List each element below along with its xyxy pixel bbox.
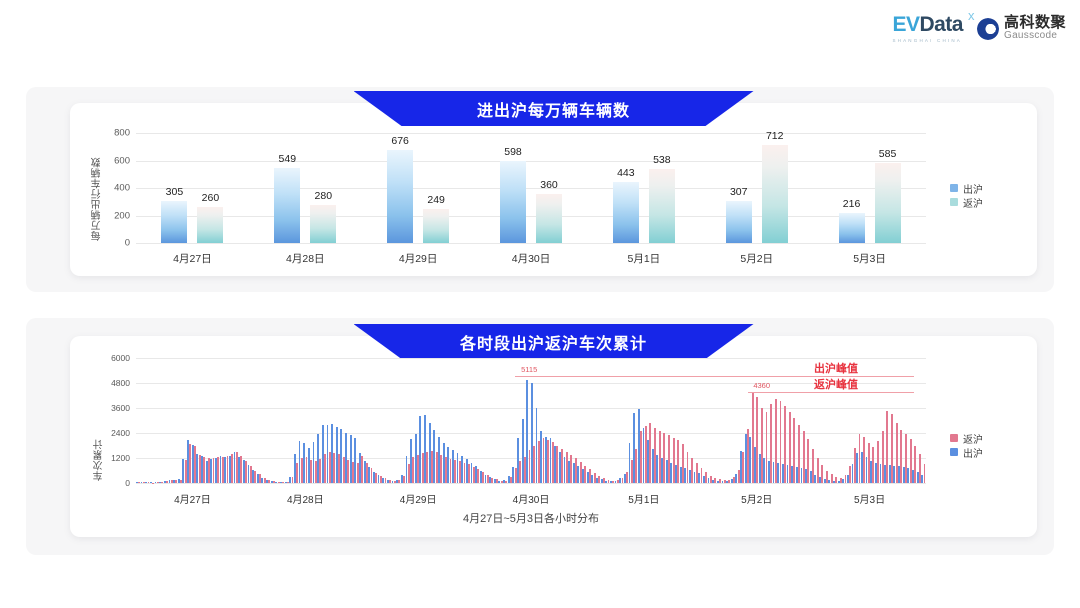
legend-swatch-返沪 bbox=[950, 434, 958, 442]
gridline bbox=[136, 216, 926, 217]
chart-card-hourly: 各时段出沪返沪车次累计 车次累计0120024003600480060004月2… bbox=[70, 336, 1037, 537]
x-axis-tick: 5月1日 bbox=[628, 251, 661, 266]
evdata-logo-text: EVDatax bbox=[892, 14, 963, 35]
gridline bbox=[136, 243, 926, 244]
y-axis-tick: 2400 bbox=[100, 428, 130, 438]
y-axis-tick: 0 bbox=[100, 238, 130, 249]
bar-value-label: 360 bbox=[540, 179, 558, 191]
bar-返沪 bbox=[536, 194, 562, 244]
peak-line-back bbox=[748, 392, 914, 393]
bar-返沪 bbox=[762, 145, 788, 243]
legend-swatch-返沪 bbox=[950, 198, 958, 206]
y-axis-tick: 800 bbox=[100, 128, 130, 139]
bar-value-label: 712 bbox=[766, 130, 784, 142]
gausscode-logo-text: 高科数聚 Gausscode bbox=[1004, 15, 1066, 41]
x-axis-tick: 5月2日 bbox=[740, 251, 773, 266]
bar-出沪 bbox=[161, 201, 187, 243]
legend-item-出沪[interactable]: 出沪 bbox=[950, 181, 983, 195]
legend-vehicles: 出沪返沪 bbox=[950, 181, 983, 209]
bar-value-label: 549 bbox=[279, 153, 297, 165]
y-axis-tick: 200 bbox=[100, 210, 130, 221]
gausscode-circle-icon bbox=[977, 18, 999, 40]
chart-card-vehicles: 进出沪每万辆车辆数 每万辆出行车辆数02004006008003052604月2… bbox=[70, 103, 1037, 276]
bar-value-label: 538 bbox=[653, 154, 671, 166]
evdata-logo-superscript: x bbox=[968, 9, 974, 22]
bar-value-label: 598 bbox=[504, 146, 522, 158]
bar-返沪 bbox=[310, 205, 336, 244]
y-axis-tick: 0 bbox=[100, 478, 130, 488]
legend-swatch-出沪 bbox=[950, 184, 958, 192]
x-axis-tick: 5月3日 bbox=[854, 491, 885, 506]
x-axis-tick: 4月27日 bbox=[174, 491, 211, 506]
bar-value-label: 249 bbox=[427, 194, 445, 206]
legend-item-出沪[interactable]: 出沪 bbox=[950, 445, 983, 459]
bar-出沪 bbox=[613, 182, 639, 243]
gausscode-logo-cn: 高科数聚 bbox=[1004, 15, 1066, 31]
gridline bbox=[136, 161, 926, 162]
chart-panel-vehicles: 进出沪每万辆车辆数 每万辆出行车辆数02004006008003052604月2… bbox=[26, 87, 1054, 292]
x-axis-tick: 4月29日 bbox=[400, 491, 437, 506]
y-axis-tick: 6000 bbox=[100, 353, 130, 363]
evdata-logo: EVDatax SHANGHAI CHINA bbox=[892, 14, 963, 43]
legend-label: 返沪 bbox=[963, 431, 983, 446]
x-axis-tick: 5月1日 bbox=[628, 491, 659, 506]
bar-出沪 bbox=[839, 213, 865, 243]
y-axis-tick: 400 bbox=[100, 183, 130, 194]
x-axis-tick: 4月29日 bbox=[399, 251, 438, 266]
page-header: EVDatax SHANGHAI CHINA 高科数聚 Gausscode bbox=[0, 0, 1080, 62]
x-axis-tick: 4月28日 bbox=[287, 491, 324, 506]
gridline bbox=[136, 358, 926, 359]
peak-value-back: 4360 bbox=[753, 381, 770, 390]
logo-group: EVDatax SHANGHAI CHINA 高科数聚 Gausscode bbox=[892, 14, 1066, 43]
gridline bbox=[136, 188, 926, 189]
legend-swatch-出沪 bbox=[950, 448, 958, 456]
gausscode-logo: 高科数聚 Gausscode bbox=[977, 15, 1066, 41]
evdata-logo-prefix: EV bbox=[892, 13, 919, 36]
bar-value-label: 443 bbox=[617, 167, 635, 179]
bar-value-label: 676 bbox=[391, 135, 409, 147]
legend-label: 出沪 bbox=[963, 445, 983, 460]
peak-label-back: 返沪峰值 bbox=[814, 376, 858, 392]
legend-label: 出沪 bbox=[963, 181, 983, 196]
bar-value-label: 260 bbox=[202, 192, 220, 204]
legend-item-返沪[interactable]: 返沪 bbox=[950, 431, 983, 445]
gausscode-logo-en: Gausscode bbox=[1004, 31, 1066, 42]
bar-出沪 bbox=[726, 201, 752, 243]
x-axis-tick: 4月27日 bbox=[173, 251, 212, 266]
peak-value-out: 5115 bbox=[521, 365, 537, 374]
bar-出沪 bbox=[274, 168, 300, 243]
x-axis-label-hourly: 4月27日~5月3日各小时分布 bbox=[463, 510, 599, 526]
x-axis-tick: 5月3日 bbox=[853, 251, 886, 266]
x-axis-tick: 4月30日 bbox=[513, 491, 550, 506]
legend-item-返沪[interactable]: 返沪 bbox=[950, 195, 983, 209]
bar-返沪 bbox=[649, 169, 675, 243]
bar-返沪 bbox=[197, 207, 223, 243]
peak-label-out: 出沪峰值 bbox=[814, 360, 858, 376]
evdata-logo-suffix: Data bbox=[919, 13, 963, 36]
bar-value-label: 585 bbox=[879, 148, 897, 160]
evdata-logo-subtitle: SHANGHAI CHINA bbox=[892, 38, 962, 43]
bar-chart-hourly: 车次累计0120024003600480060004月27日4月28日4月29日… bbox=[70, 336, 1037, 537]
y-axis-tick: 4800 bbox=[100, 378, 130, 388]
y-axis-tick: 600 bbox=[100, 155, 130, 166]
bar-chart-vehicles: 每万辆出行车辆数02004006008003052604月27日5492804月… bbox=[70, 103, 1037, 276]
bar-出沪 bbox=[500, 161, 526, 243]
bar-value-label: 280 bbox=[315, 190, 333, 202]
y-axis-tick: 1200 bbox=[100, 453, 130, 463]
bar-value-label: 305 bbox=[166, 186, 184, 198]
x-axis-tick: 4月28日 bbox=[286, 251, 325, 266]
legend-hourly: 返沪出沪 bbox=[950, 431, 983, 459]
chart-panel-hourly: 各时段出沪返沪车次累计 车次累计0120024003600480060004月2… bbox=[26, 318, 1054, 555]
hourly-bar-back bbox=[924, 464, 926, 483]
x-axis-tick: 4月30日 bbox=[512, 251, 551, 266]
bar-value-label: 216 bbox=[843, 198, 861, 210]
x-axis-tick: 5月2日 bbox=[741, 491, 772, 506]
legend-label: 返沪 bbox=[963, 195, 983, 210]
bar-value-label: 307 bbox=[730, 186, 748, 198]
gridline bbox=[136, 483, 926, 484]
bar-返沪 bbox=[875, 163, 901, 243]
gridline bbox=[136, 133, 926, 134]
y-axis-tick: 3600 bbox=[100, 403, 130, 413]
bar-出沪 bbox=[387, 150, 413, 243]
bar-返沪 bbox=[423, 209, 449, 243]
